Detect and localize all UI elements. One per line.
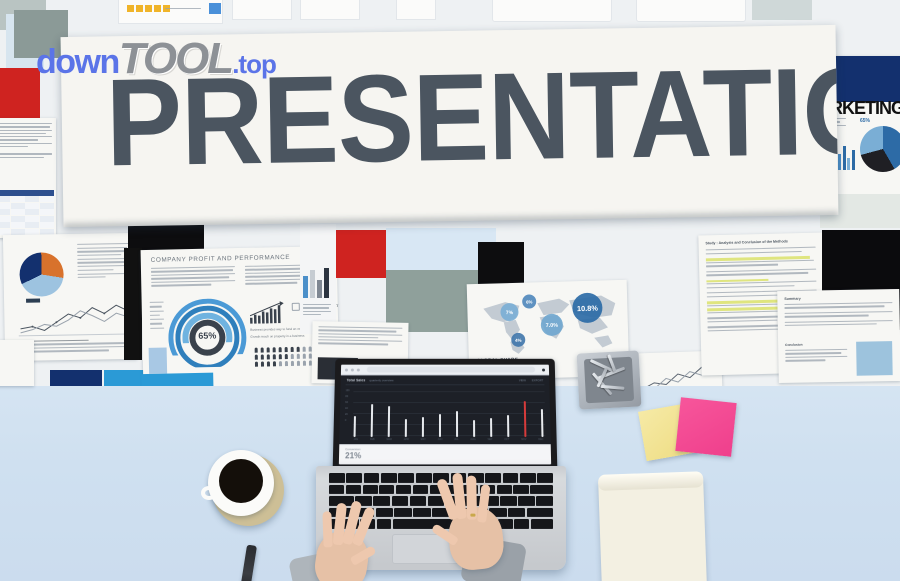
bar [524, 401, 527, 437]
hand-left [306, 494, 414, 581]
x-tick: OCT [504, 438, 509, 441]
x-tick: SEP [488, 438, 493, 441]
key[interactable] [346, 485, 361, 495]
bar-chart: 100 80 60 40 20 0 JANFEBMARAPRMAYJUNJULA… [344, 384, 545, 440]
dashboard-footer: Conversion 21% [339, 444, 551, 464]
dashboard-header: Total Sales quarterly overview VIEW EXPO… [341, 375, 550, 383]
key[interactable] [379, 485, 394, 495]
y-tick: 60 [345, 401, 349, 404]
y-tick: 20 [345, 413, 349, 416]
svg-text:4%: 4% [515, 338, 522, 343]
footer-value: 21% [345, 451, 545, 461]
x-tick: JAN [353, 438, 358, 441]
bar [473, 420, 475, 438]
donut-chart: 65% [168, 298, 248, 378]
x-tick: FEB [370, 438, 375, 441]
y-tick: 0 [345, 419, 349, 422]
dashboard-title: Total Sales [347, 378, 366, 382]
x-tick: AUG [470, 438, 475, 441]
tray-inner [584, 357, 634, 403]
block-tl-red [0, 68, 40, 124]
dashboard-actions[interactable]: VIEW EXPORT [519, 378, 544, 382]
key[interactable] [346, 473, 362, 483]
watermark-top: .top [232, 49, 276, 79]
key[interactable] [381, 473, 397, 483]
sticky-note-pink [675, 397, 736, 457]
summary-title: Summary [784, 297, 800, 301]
bar [422, 417, 424, 437]
notepad-spine [598, 471, 703, 491]
minidoc-a [118, 0, 223, 24]
minidoc-e [492, 0, 612, 22]
view-action[interactable]: VIEW [519, 378, 526, 382]
screenshot-root: COMPANY PROFIT AND PERFORMANCE [0, 0, 900, 581]
bar [490, 418, 492, 437]
coffee-liquid [219, 459, 263, 503]
block-black-strip [124, 248, 142, 360]
key[interactable] [329, 473, 345, 483]
x-tick: APR [404, 438, 409, 441]
key[interactable] [520, 473, 536, 483]
key[interactable] [518, 496, 535, 506]
marketing-pct: 65% [860, 118, 870, 124]
key[interactable] [398, 473, 414, 483]
key[interactable] [396, 485, 411, 495]
bar [388, 406, 390, 437]
block-top-gray [752, 0, 812, 20]
bar [405, 419, 407, 437]
company-report-title: COMPANY PROFIT AND PERFORMANCE [151, 254, 291, 264]
key[interactable] [537, 473, 553, 483]
y-axis: 100 80 60 40 20 0 [345, 389, 350, 422]
watermark: downTOOL.top [36, 42, 276, 81]
study-title: Study : Analysis and Conclusion of the M… [705, 239, 787, 245]
bar [371, 404, 374, 437]
y-tick: 40 [345, 407, 349, 410]
y-tick: 80 [345, 395, 349, 398]
minidoc-d [396, 0, 436, 20]
x-axis: JANFEBMARAPRMAYJUNJULAUGSEPOCTNOVDEC [353, 438, 543, 441]
bar-series [354, 388, 544, 437]
browser-dot [357, 368, 360, 371]
browser-dot [345, 368, 348, 371]
marketing-hero-block [830, 56, 900, 102]
coffee-cup [204, 448, 288, 532]
export-action[interactable]: EXPORT [532, 378, 543, 382]
key[interactable] [363, 485, 378, 495]
bar [354, 416, 356, 437]
doc-mid-strip [300, 224, 336, 334]
hand-right [415, 473, 525, 581]
growth-sparkline [250, 301, 290, 324]
donut-value: 65% [190, 330, 224, 341]
people-pictogram [255, 346, 320, 367]
summary-section-title: Conclusion [785, 343, 802, 347]
address-bar[interactable] [367, 367, 535, 373]
key-return[interactable] [527, 508, 553, 518]
y-tick: 100 [345, 389, 349, 392]
minidoc-b [232, 0, 292, 20]
browser-dot [351, 368, 354, 371]
bar [507, 415, 509, 437]
cup-body [208, 450, 274, 516]
laptop-screen[interactable]: Total Sales quarterly overview VIEW EXPO… [339, 365, 551, 465]
svg-text:10.8%: 10.8% [577, 304, 599, 314]
svg-text:7%: 7% [506, 310, 514, 316]
watermark-tool: TOOL [119, 34, 232, 83]
dashboard-subtitle: quarterly overview [369, 378, 393, 382]
svg-text:6%: 6% [526, 299, 533, 304]
laptop-lid: Total Sales quarterly overview VIEW EXPO… [333, 359, 558, 471]
notepad [598, 478, 707, 581]
line-chart [18, 301, 131, 337]
world-map: 7% 6% 4% 7.0% 10.8% [473, 285, 623, 355]
x-tick: NOV [521, 438, 526, 441]
minidoc-c [300, 0, 360, 20]
minidoc-f [636, 0, 746, 22]
x-tick: DEC [538, 438, 543, 441]
bar [456, 411, 458, 437]
key-backspace[interactable] [530, 485, 553, 495]
key[interactable] [364, 473, 380, 483]
block-red-mid [336, 230, 386, 278]
ring [470, 514, 475, 517]
key[interactable] [536, 496, 553, 506]
bar [439, 414, 441, 437]
key-arrow[interactable] [531, 519, 553, 529]
cup-handle [201, 486, 217, 500]
svg-text:7.0%: 7.0% [546, 323, 559, 329]
pie-chart [19, 252, 64, 297]
browser-toolbar[interactable] [341, 365, 549, 376]
doc-desk-edge-left [0, 340, 34, 386]
key[interactable] [329, 485, 344, 495]
marketing-pie [860, 126, 900, 172]
x-tick: JUN [438, 438, 443, 441]
x-tick: MAY [421, 438, 426, 441]
doc-summary: Summary Conclusion [777, 289, 900, 383]
summary-map-thumb [856, 341, 893, 376]
x-tick: JUL [454, 438, 458, 441]
watermark-down: down [36, 43, 119, 81]
x-tick: MAR [387, 438, 392, 441]
profile-icon[interactable] [542, 368, 545, 371]
laptop[interactable]: Total Sales quarterly overview VIEW EXPO… [316, 358, 566, 581]
paperclip-tray [577, 350, 642, 409]
